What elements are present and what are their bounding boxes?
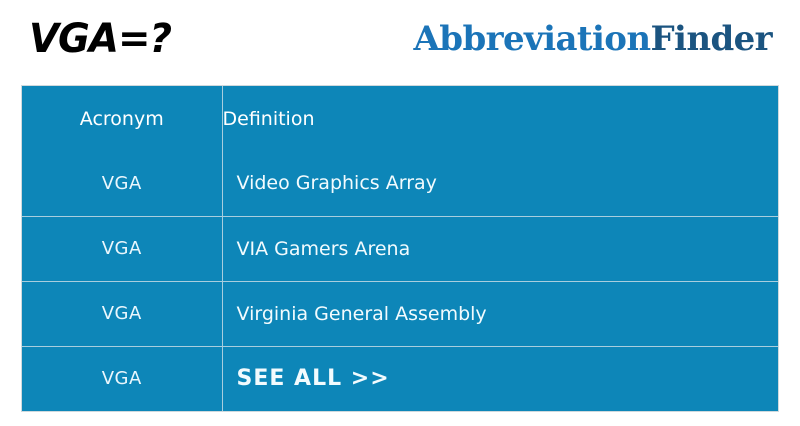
table-row[interactable]: VGA VIA Gamers Arena — [22, 216, 778, 281]
cell-acronym: VGA — [22, 281, 222, 346]
cell-definition[interactable]: Virginia General Assembly — [222, 281, 778, 346]
brand-logo-finder-text: Finder — [651, 19, 773, 59]
column-header-acronym: Acronym — [22, 86, 222, 151]
table-body: VGA Video Graphics Array VGA VIA Gamers … — [22, 151, 778, 411]
table-header: Acronym Definition — [22, 86, 778, 151]
table-row[interactable]: VGA Virginia General Assembly — [22, 281, 778, 346]
brand-logo-abbreviation-text: Abbreviation — [414, 19, 651, 59]
cell-definition[interactable]: VIA Gamers Arena — [222, 216, 778, 281]
cell-acronym: VGA — [22, 151, 222, 216]
page-title: VGA=? — [29, 16, 171, 62]
brand-logo[interactable]: AbbreviationFinder — [414, 18, 773, 60]
page-header: VGA=? AbbreviationFinder — [0, 0, 800, 86]
cell-acronym: VGA — [22, 346, 222, 411]
table-header-row: Acronym Definition — [22, 86, 778, 151]
table-row-see-all[interactable]: VGA SEE ALL >> — [22, 346, 778, 411]
cell-definition[interactable]: Video Graphics Array — [222, 151, 778, 216]
acronym-definition-table: Acronym Definition VGA Video Graphics Ar… — [22, 86, 778, 411]
cell-acronym: VGA — [22, 216, 222, 281]
see-all-link[interactable]: SEE ALL >> — [222, 346, 778, 411]
table-row[interactable]: VGA Video Graphics Array — [22, 151, 778, 216]
column-header-definition: Definition — [222, 86, 778, 151]
